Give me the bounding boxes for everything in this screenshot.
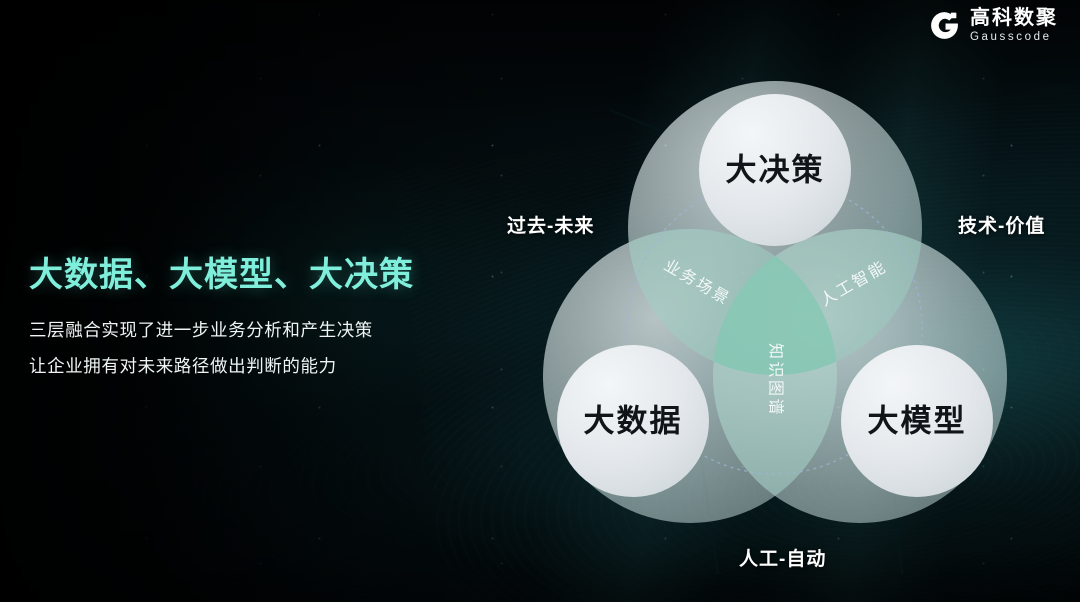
axis-label-past-future: 过去-未来 — [507, 211, 594, 238]
subtitle-line-1: 三层融合实现了进一步业务分析和产生决策 — [29, 313, 459, 349]
slide-canvas: 高科数聚 Gausscode 大数据、大模型、大决策 三层融合实现了进一步业务分… — [0, 0, 1080, 602]
axis-label-manual-auto: 人工-自动 — [739, 544, 826, 571]
page-title: 大数据、大模型、大决策 — [29, 255, 459, 295]
axis-label-tech-value: 技术-价值 — [958, 211, 1045, 238]
core-label-decision: 大决策 — [726, 153, 825, 188]
venn-diagram: 过去-未来 技术-价值 人工-自动 — [490, 18, 1060, 588]
venn-svg: 大决策 大数据 大模型 业务场景 人工智能 知识图谱 — [490, 18, 1060, 588]
headline-subtitle: 三层融合实现了进一步业务分析和产生决策 让企业拥有对未来路径做出判断的能力 — [29, 313, 459, 385]
subtitle-line-2: 让企业拥有对未来路径做出判断的能力 — [29, 349, 459, 385]
overlap-label-knowledge-graph: 知识图谱 — [767, 343, 785, 417]
headline-block: 大数据、大模型、大决策 三层融合实现了进一步业务分析和产生决策 让企业拥有对未来… — [29, 255, 459, 385]
core-label-bigmodel: 大模型 — [868, 404, 967, 439]
core-label-bigdata: 大数据 — [584, 404, 683, 439]
